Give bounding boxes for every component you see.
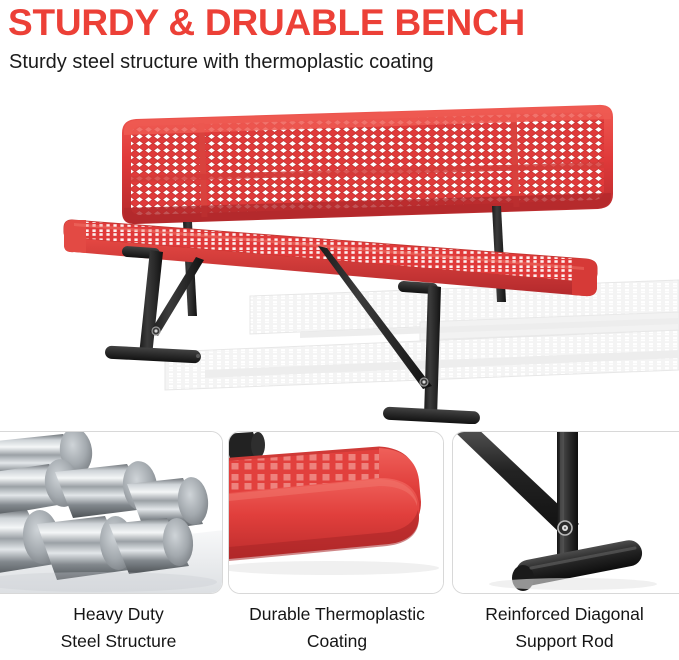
caption-steel-structure: Heavy Duty Steel Structure: [12, 601, 225, 655]
caption-line-2: Steel Structure: [12, 628, 225, 655]
caption-line-2: Coating: [226, 628, 448, 655]
bench-backrest: [122, 105, 613, 224]
caption-thermoplastic-coating: Durable Thermoplastic Coating: [226, 601, 448, 655]
feature-panel-steel-rods: [0, 431, 223, 594]
bench-illustration: [0, 84, 679, 424]
caption-support-rod: Reinforced Diagonal Support Rod: [450, 601, 679, 655]
feature-panels: [0, 431, 679, 595]
hero-bench-image: [0, 84, 679, 424]
feature-panel-thermoplastic-coating: [228, 431, 444, 594]
feature-panel-support-rod: [452, 431, 679, 594]
caption-line-1: Heavy Duty: [12, 601, 225, 628]
caption-line-2: Support Rod: [450, 628, 679, 655]
feature-captions: Heavy Duty Steel Structure Durable Therm…: [0, 601, 679, 660]
thermoplastic-seat-illustration: [229, 432, 444, 594]
page-title: STURDY & DRUABLE BENCH: [8, 1, 525, 45]
caption-line-1: Durable Thermoplastic: [226, 601, 448, 628]
product-infographic: STURDY & DRUABLE BENCH Sturdy steel stru…: [0, 0, 679, 660]
support-rod-illustration: [453, 432, 679, 594]
steel-rods-illustration: [0, 432, 223, 594]
caption-line-1: Reinforced Diagonal: [450, 601, 679, 628]
page-subtitle: Sturdy steel structure with thermoplasti…: [9, 48, 434, 76]
